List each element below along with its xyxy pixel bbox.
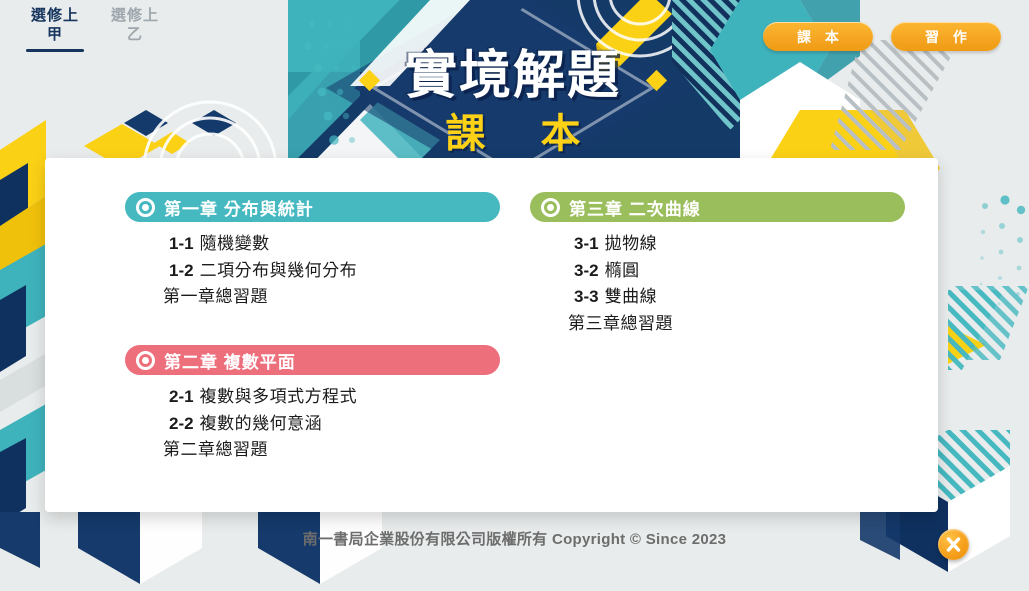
chapter-1-header[interactable]: 第一章 分布與統計: [125, 192, 500, 222]
target-icon: [136, 198, 155, 217]
banner-subtitle: 課 本: [318, 114, 708, 154]
chapter-3: 第三章 二次曲線 3-1拋物線 3-2橢圓 3-3雙曲線 第三章總習題: [530, 192, 905, 338]
list-item[interactable]: 3-1拋物線: [530, 231, 905, 258]
list-item[interactable]: 第三章總習題: [530, 311, 905, 338]
banner-title: 實境解題: [318, 50, 708, 102]
chapter-2-header[interactable]: 第二章 複數平面: [125, 345, 500, 375]
close-button[interactable]: [938, 529, 969, 560]
item-number: 1-1: [169, 234, 194, 253]
banner: 實境解題 課 本: [318, 10, 708, 170]
item-label: 第三章總習題: [568, 314, 673, 333]
diamond-accent-right-icon: [646, 70, 667, 91]
chapter-3-items: 3-1拋物線 3-2橢圓 3-3雙曲線 第三章總習題: [530, 231, 905, 338]
app-root: 選修上 甲 選修上 乙 課 本 習 作 實境解題 課 本 第一章 分布與統計: [0, 0, 1029, 591]
list-item[interactable]: 第一章總習題: [125, 284, 500, 311]
item-label: 拋物線: [605, 234, 658, 253]
chapter-2-items: 2-1複數與多項式方程式 2-2複數的幾何意涵 第二章總習題: [125, 384, 500, 464]
chapter-3-title: 第三章 二次曲線: [569, 195, 701, 220]
tab-volume-yi-line2: 乙: [102, 25, 168, 44]
close-icon: [938, 529, 969, 560]
tab-volume-jia[interactable]: 選修上 甲: [22, 6, 88, 56]
list-item[interactable]: 3-2橢圓: [530, 258, 905, 285]
tab-volume-jia-line1: 選修上: [22, 6, 88, 25]
chapter-1-items: 1-1隨機變數 1-2二項分布與幾何分布 第一章總習題: [125, 231, 500, 311]
chapter-list-card: 第一章 分布與統計 1-1隨機變數 1-2二項分布與幾何分布 第一章總習題 第二…: [45, 158, 938, 512]
tab-volume-yi-line1: 選修上: [102, 6, 168, 25]
textbook-button[interactable]: 課 本: [763, 22, 873, 51]
item-number: 1-2: [169, 261, 194, 280]
item-label: 第一章總習題: [163, 287, 268, 306]
item-label: 複數與多項式方程式: [200, 387, 358, 406]
tab-volume-yi[interactable]: 選修上 乙: [102, 6, 168, 48]
item-label: 二項分布與幾何分布: [200, 261, 358, 280]
item-label: 雙曲線: [605, 287, 658, 306]
material-type-buttons: 課 本 習 作: [763, 22, 1001, 51]
tab-active-underline: [26, 49, 84, 52]
target-icon: [136, 351, 155, 370]
list-item[interactable]: 1-2二項分布與幾何分布: [125, 258, 500, 285]
item-label: 隨機變數: [200, 234, 270, 253]
book-volume-tabs: 選修上 甲 選修上 乙: [22, 6, 168, 56]
chapter-2-title: 第二章 複數平面: [164, 348, 296, 373]
target-icon: [541, 198, 560, 217]
item-number: 3-2: [574, 261, 599, 280]
workbook-button[interactable]: 習 作: [891, 22, 1001, 51]
item-number: 3-3: [574, 287, 599, 306]
item-number: 2-1: [169, 387, 194, 406]
item-number: 3-1: [574, 234, 599, 253]
chapter-column-left: 第一章 分布與統計 1-1隨機變數 1-2二項分布與幾何分布 第一章總習題 第二…: [125, 192, 500, 464]
list-item[interactable]: 2-1複數與多項式方程式: [125, 384, 500, 411]
diamond-accent-left-icon: [359, 70, 380, 91]
chapter-1: 第一章 分布與統計 1-1隨機變數 1-2二項分布與幾何分布 第一章總習題: [125, 192, 500, 311]
list-item[interactable]: 1-1隨機變數: [125, 231, 500, 258]
list-item[interactable]: 3-3雙曲線: [530, 284, 905, 311]
item-label: 第二章總習題: [163, 440, 268, 459]
tab-volume-jia-line2: 甲: [22, 25, 88, 44]
chapter-3-header[interactable]: 第三章 二次曲線: [530, 192, 905, 222]
chapter-2: 第二章 複數平面 2-1複數與多項式方程式 2-2複數的幾何意涵 第二章總習題: [125, 345, 500, 464]
list-item[interactable]: 第二章總習題: [125, 437, 500, 464]
chapter-1-title: 第一章 分布與統計: [164, 195, 314, 220]
chapter-column-right: 第三章 二次曲線 3-1拋物線 3-2橢圓 3-3雙曲線 第三章總習題: [530, 192, 905, 338]
copyright-footer: 南一書局企業股份有限公司版權所有 Copyright © Since 2023: [0, 528, 1029, 549]
item-label: 橢圓: [605, 261, 640, 280]
item-number: 2-2: [169, 414, 194, 433]
list-item[interactable]: 2-2複數的幾何意涵: [125, 411, 500, 438]
item-label: 複數的幾何意涵: [200, 414, 323, 433]
